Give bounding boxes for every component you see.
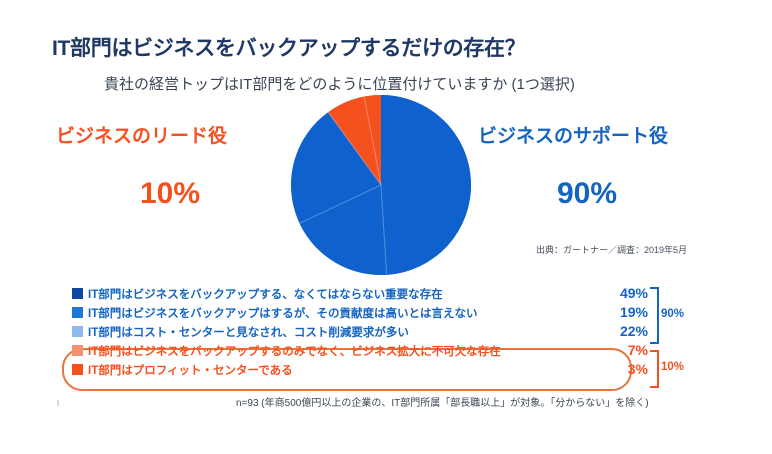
bracket-label: 90% <box>661 308 684 320</box>
legend-swatch <box>72 326 83 337</box>
bracket-label: 10% <box>661 361 684 373</box>
callout-left-value: 10% <box>140 177 200 211</box>
legend-label: IT部門はビジネスをバックアップはするが、その貢献度は高いとは言えない <box>88 305 478 321</box>
legend-label: IT部門はプロフィット・センターである <box>88 362 293 378</box>
callout-right-label: ビジネスのサポート役 <box>478 121 668 148</box>
corner-mark <box>57 400 59 406</box>
legend-value: 3% <box>600 360 648 379</box>
legend-label: IT部門はビジネスをバックアップするのみでなく、ビジネス拡大に不可欠な存在 <box>88 343 501 359</box>
legend-swatch <box>72 288 83 299</box>
legend-value: 19% <box>600 303 648 322</box>
pie-chart <box>286 90 476 280</box>
legend-swatch <box>72 307 83 318</box>
chart-legend: IT部門はビジネスをバックアップする、なくてはならない重要な存在 IT部門はビジ… <box>72 284 632 379</box>
pie-chart-svg <box>286 90 476 280</box>
callout-right-value: 90% <box>557 177 617 211</box>
legend-value: 22% <box>600 322 648 341</box>
legend-item[interactable]: IT部門はコスト・センターと見なされ、コスト削減要求が多い <box>72 322 632 341</box>
legend-item[interactable]: IT部門はビジネスをバックアップはするが、その貢献度は高いとは言えない <box>72 303 632 322</box>
chart-source: 出典：ガートナー／調査：2019年5月 <box>536 243 687 256</box>
callout-left-label: ビジネスのリード役 <box>56 121 227 148</box>
legend-label: IT部門はビジネスをバックアップする、なくてはならない重要な存在 <box>88 286 443 302</box>
chart-footnote: n=93 (年商500億円以上の企業の、IT部門所属「部長職以上」が対象。「分か… <box>236 394 649 409</box>
legend-value: 7% <box>600 341 648 360</box>
legend-swatch <box>72 364 83 375</box>
page-title: IT部門はビジネスをバックアップするだけの存在？ <box>52 32 525 62</box>
bracket-bar <box>650 287 659 344</box>
legend-item[interactable]: IT部門はプロフィット・センターである <box>72 360 632 379</box>
legend-value: 49% <box>600 284 648 303</box>
slide-canvas: IT部門はビジネスをバックアップするだけの存在？ 貴社の経営トップはIT部門をど… <box>0 0 772 454</box>
legend-label: IT部門はコスト・センターと見なされ、コスト削減要求が多い <box>88 324 409 340</box>
bracket-bar <box>650 350 659 388</box>
legend-swatch <box>72 345 83 356</box>
legend-value-column: 49% 19% 22% 7% 3% <box>600 284 648 379</box>
legend-item[interactable]: IT部門はビジネスをバックアップする、なくてはならない重要な存在 <box>72 284 632 303</box>
legend-item[interactable]: IT部門はビジネスをバックアップするのみでなく、ビジネス拡大に不可欠な存在 <box>72 341 632 360</box>
